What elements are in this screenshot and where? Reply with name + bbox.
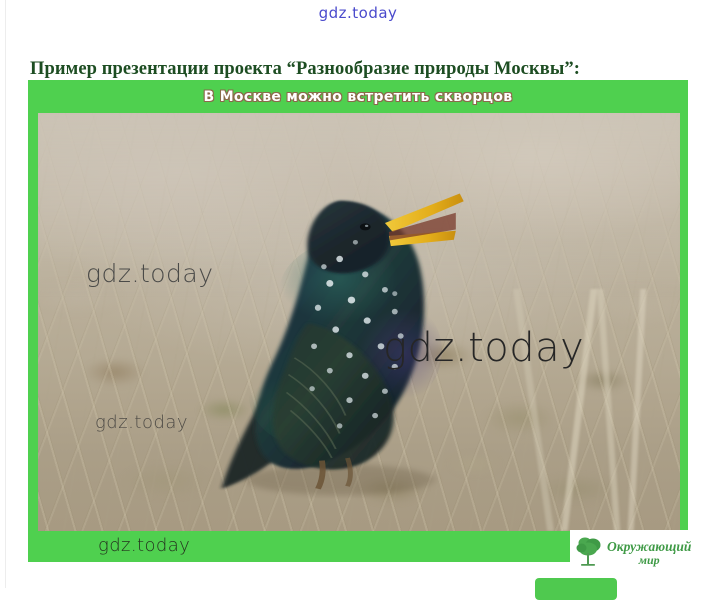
slide-header-title: В Москве можно встретить скворцов	[204, 89, 513, 105]
site-watermark-top: gdz.today	[0, 4, 716, 22]
watermark-overlay-a: gdz.today	[86, 259, 214, 288]
logo-line-1: Окружающий	[607, 540, 691, 554]
logo-text: Окружающий мир	[607, 540, 691, 567]
bottom-green-button[interactable]	[535, 578, 617, 600]
okruzhayushchiy-mir-logo: Окружающий мир	[570, 530, 716, 576]
page-title: Пример презентации проекта “Разнообразие…	[30, 59, 690, 80]
watermark-overlay-c: gdz.today	[95, 412, 188, 433]
logo-line-2: мир	[607, 554, 691, 567]
presentation-slide: В Москве можно встретить скворцов	[28, 80, 688, 562]
watermark-overlay-b: gdz.today	[383, 325, 584, 371]
tree-icon	[574, 536, 604, 570]
slide-footer: gdz.today Окружающий мир	[28, 531, 688, 562]
slide-photo: gdz.today gdz.today gdz.today gdz.today	[38, 113, 680, 531]
slide-header: В Москве можно встретить скворцов	[28, 80, 688, 113]
watermark-overlay-e: gdz.today	[98, 535, 190, 556]
